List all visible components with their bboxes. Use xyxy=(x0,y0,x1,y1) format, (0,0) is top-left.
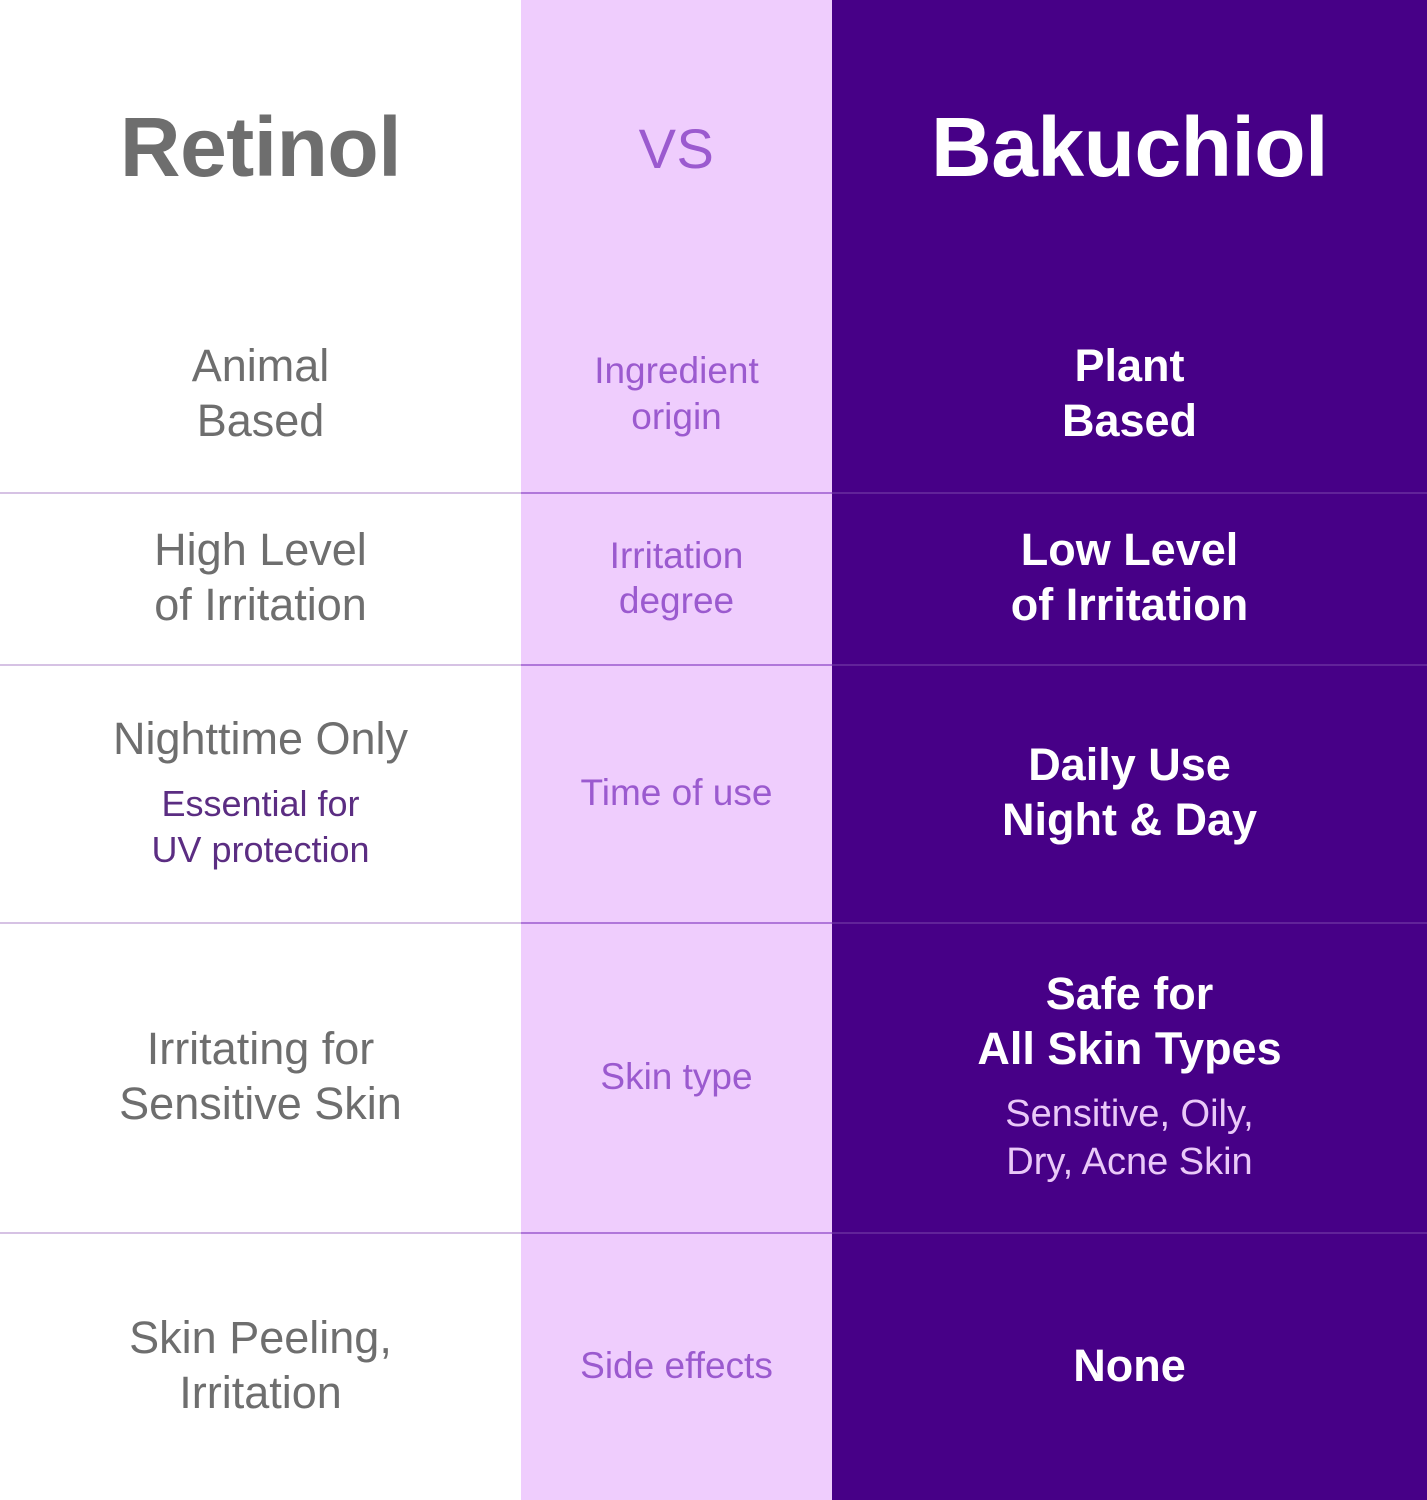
text-line: Skin type xyxy=(600,1054,752,1099)
comparison-infographic: Retinol VS Bakuchiol Animal Based Ingred… xyxy=(0,0,1427,1500)
text-line: of Irritation xyxy=(1011,578,1248,633)
text-line: degree xyxy=(619,578,734,623)
cell-retinol-side-effects: Skin Peeling, Irritation xyxy=(0,1232,521,1500)
text-line: Essential for xyxy=(151,781,369,827)
cell-bakuchiol-side-effects: None xyxy=(832,1232,1427,1500)
cell-retinol-skin-type: Irritating for Sensitive Skin xyxy=(0,922,521,1232)
text-line: Safe for xyxy=(1046,967,1214,1022)
text-line: origin xyxy=(631,394,722,439)
cell-retinol-ingredient-origin: Animal Based xyxy=(0,295,521,492)
text-line: All Skin Types xyxy=(977,1022,1281,1077)
comparison-grid: Retinol VS Bakuchiol Animal Based Ingred… xyxy=(0,0,1427,1500)
text-line: Dry, Acne Skin xyxy=(1005,1139,1253,1187)
text-line: Low Level xyxy=(1021,523,1239,578)
text-line: Sensitive, Oily, xyxy=(1005,1091,1253,1139)
text-line: Plant xyxy=(1074,339,1184,394)
text-line: Time of use xyxy=(581,770,773,815)
text-line: Sensitive Skin xyxy=(119,1077,402,1132)
text-line: Based xyxy=(1062,394,1197,449)
text-line: Animal xyxy=(192,339,330,394)
cell-retinol-time-of-use: Nighttime Only Essential for UV protecti… xyxy=(0,664,521,922)
attribute-time-of-use: Time of use xyxy=(521,664,832,922)
cell-bakuchiol-ingredient-origin: Plant Based xyxy=(832,295,1427,492)
text-line: Irritating for xyxy=(147,1022,375,1077)
text-line: Nighttime Only xyxy=(113,712,408,767)
cell-bakuchiol-time-of-use: Daily Use Night & Day xyxy=(832,664,1427,922)
attribute-side-effects: Side effects xyxy=(521,1232,832,1500)
text-line: Ingredient xyxy=(594,348,759,393)
attribute-skin-type: Skin type xyxy=(521,922,832,1232)
header-vs: VS xyxy=(521,0,832,295)
text-line: Side effects xyxy=(580,1343,773,1388)
header-bakuchiol: Bakuchiol xyxy=(832,0,1427,295)
cell-bakuchiol-skin-type: Safe for All Skin Types Sensitive, Oily,… xyxy=(832,922,1427,1232)
text-line: of Irritation xyxy=(154,578,367,633)
text-line: Based xyxy=(197,394,325,449)
cell-bakuchiol-irritation-degree: Low Level of Irritation xyxy=(832,492,1427,664)
text-line: None xyxy=(1073,1339,1186,1394)
text-line: Night & Day xyxy=(1002,793,1257,848)
text-line: Irritation xyxy=(179,1366,342,1421)
text-line: Irritation xyxy=(610,533,744,578)
header-retinol: Retinol xyxy=(0,0,521,295)
text-line: Skin Peeling, xyxy=(129,1311,392,1366)
attribute-irritation-degree: Irritation degree xyxy=(521,492,832,664)
text-line: High Level xyxy=(154,523,367,578)
text-line: UV protection xyxy=(151,827,369,873)
cell-retinol-irritation-degree: High Level of Irritation xyxy=(0,492,521,664)
cell-retinol-time-of-use-note: Essential for UV protection xyxy=(151,781,369,873)
attribute-ingredient-origin: Ingredient origin xyxy=(521,295,832,492)
cell-bakuchiol-skin-type-note: Sensitive, Oily, Dry, Acne Skin xyxy=(1005,1091,1253,1187)
text-line: Daily Use xyxy=(1028,738,1231,793)
